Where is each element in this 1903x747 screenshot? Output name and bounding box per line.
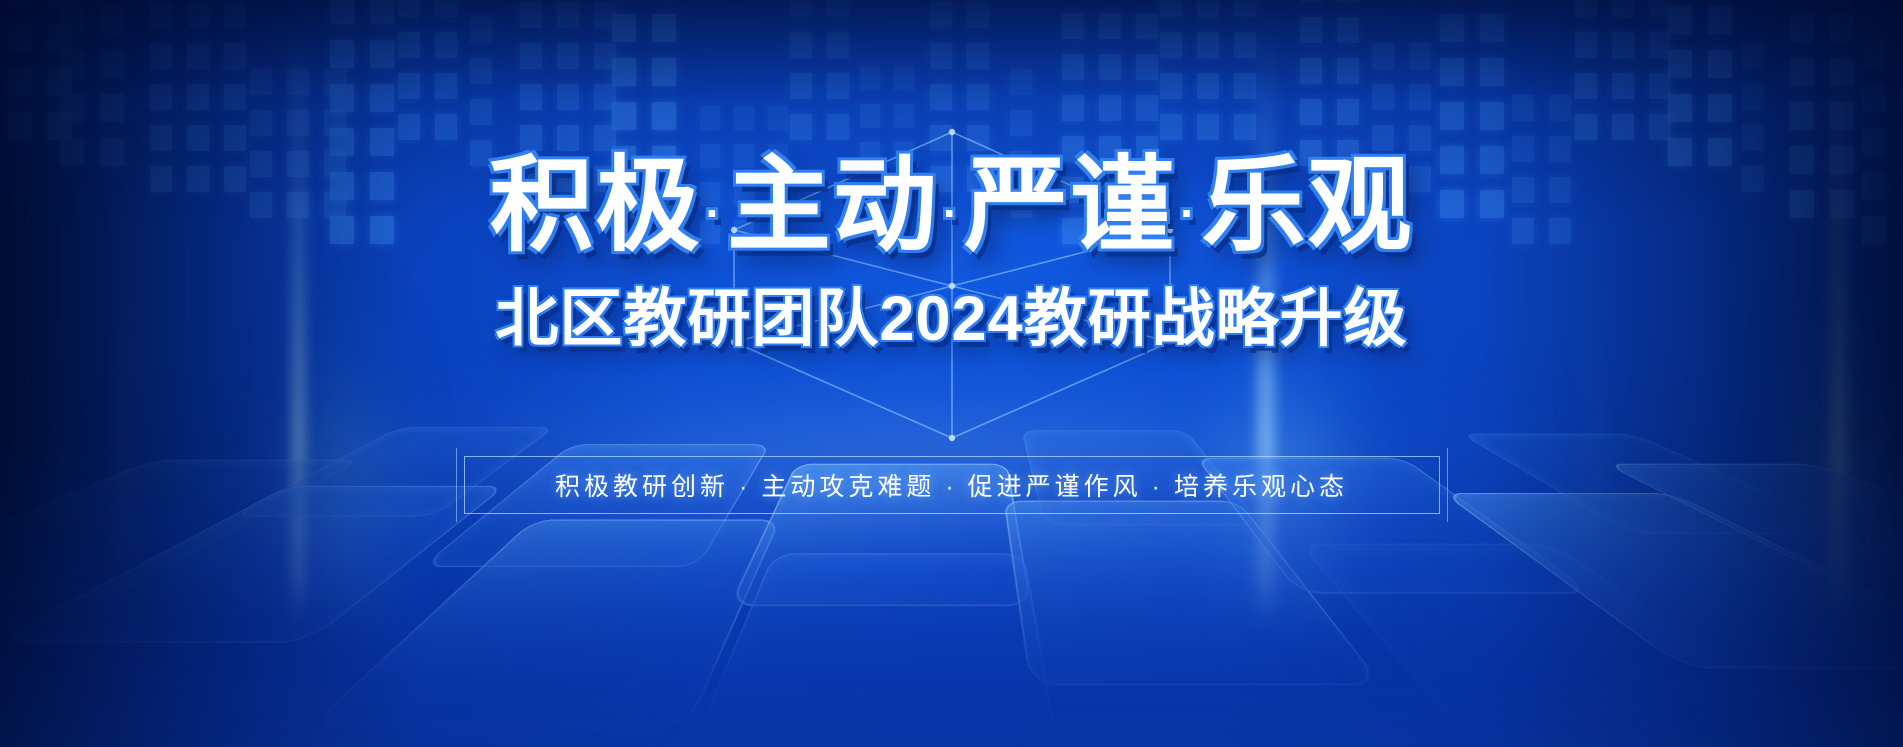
tagline-item-2: 主动攻克难题	[761, 473, 935, 501]
tagline-separator-2: ·	[945, 473, 957, 501]
banner-root: 积极·主动·严谨·乐观 北区教研团队2024教研战略升级 积极教研创新·主动攻克…	[0, 0, 1903, 747]
headline-separator-2: ·	[943, 187, 960, 239]
sub-headline: 北区教研团队2024教研战略升级	[495, 268, 1407, 359]
tagline-separator-3: ·	[1152, 473, 1164, 501]
headline-separator-3: ·	[1180, 187, 1197, 239]
headline-separator-1: ·	[705, 187, 722, 239]
tagline-item-4: 培养乐观心态	[1174, 473, 1348, 501]
tagline-separator-1: ·	[739, 473, 751, 501]
headline-word-4: 乐观	[1202, 148, 1414, 264]
title-block: 积极·主动·严谨·乐观 北区教研团队2024教研战略升级	[0, 150, 1903, 359]
tagline-item-3: 促进严谨作风	[968, 473, 1142, 501]
tagline-frame: 积极教研创新·主动攻克难题·促进严谨作风·培养乐观心态	[464, 456, 1440, 514]
headline-word-3: 严谨	[964, 148, 1176, 264]
main-headline: 积极·主动·严谨·乐观	[489, 150, 1413, 262]
headline-word-2: 主动	[727, 148, 939, 264]
tagline-text: 积极教研创新·主动攻克难题·促进严谨作风·培养乐观心态	[555, 467, 1348, 503]
headline-word-1: 积极	[489, 148, 701, 264]
tagline-item-1: 积极教研创新	[555, 473, 729, 501]
